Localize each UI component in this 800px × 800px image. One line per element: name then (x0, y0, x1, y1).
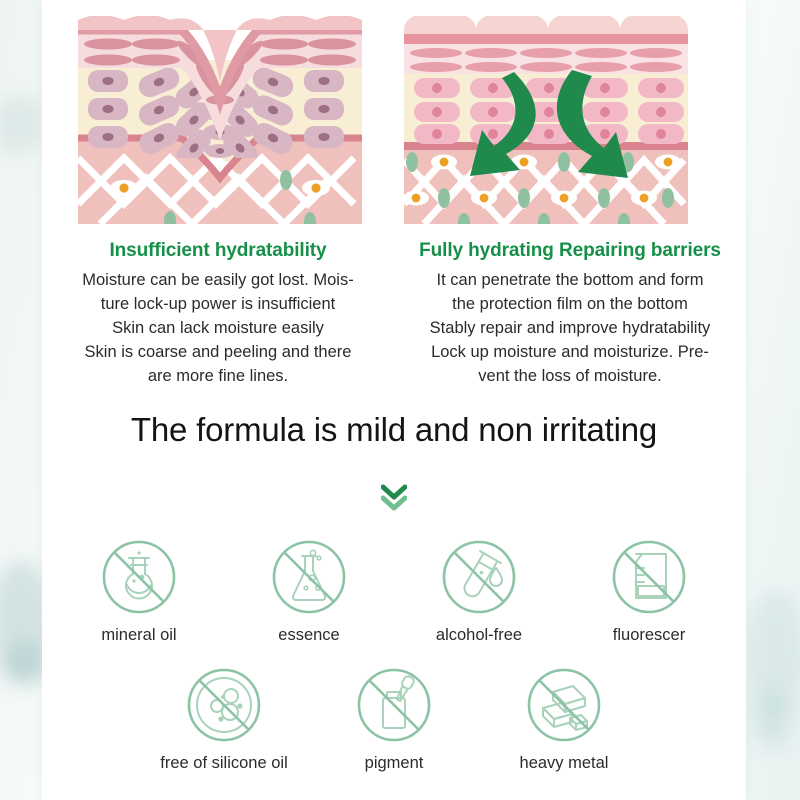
free-from-label: pigment (365, 752, 424, 774)
chevron-down-icon (381, 495, 407, 511)
section-headline: The formula is mild and non irritating (42, 408, 746, 452)
backdrop-blur-accent (0, 95, 46, 155)
no-beaker-icon (608, 536, 690, 618)
copy-line: Skin is coarse and peeling and there (48, 340, 388, 364)
no-metal-ingots-icon (523, 664, 605, 746)
copy-heading-hydrated: Fully hydrating Repairing barriers (400, 238, 740, 264)
copy-line: Stably repair and improve hydratability (400, 316, 740, 340)
free-from-item-silicone-oil: free of silicone oil (163, 664, 285, 774)
scroll-chevrons (42, 484, 746, 511)
free-from-row-one: mineral oil (42, 536, 746, 646)
free-from-item-mineral-oil: mineral oil (78, 536, 200, 646)
copy-column-hydrated: Fully hydrating Repairing barriers It ca… (394, 238, 746, 388)
copy-line: are more fine lines. (48, 364, 388, 388)
copy-line: vent the loss of moisture. (400, 364, 740, 388)
free-from-label: fluorescer (613, 624, 685, 646)
copy-line: Lock up moisture and moisturize. Pre- (400, 340, 740, 364)
free-from-item-fluorescer: fluorescer (588, 536, 710, 646)
no-test-tube-droplet-icon (438, 536, 520, 618)
copy-line: Moisture can be easily got lost. Mois- (48, 268, 388, 292)
copy-line: It can penetrate the bottom and form (400, 268, 740, 292)
free-from-item-heavy-metal: heavy metal (503, 664, 625, 774)
skin-diagram-row (42, 0, 746, 240)
backdrop-blur-accent (752, 690, 792, 750)
copy-body-hydrated: It can penetrate the bottom and form the… (400, 268, 740, 388)
free-from-icon-grid: mineral oil (42, 536, 746, 774)
no-round-flask-icon (98, 536, 180, 618)
copy-column-dehydrated: Insufficient hydratability Moisture can … (42, 238, 394, 388)
infographic-card: Insufficient hydratability Moisture can … (42, 0, 746, 800)
free-from-row-two: free of silicone oil (42, 664, 746, 774)
free-from-label: mineral oil (101, 624, 176, 646)
skin-diagram-hydrated (396, 8, 696, 232)
free-from-item-pigment: pigment (333, 664, 455, 774)
free-from-label: essence (278, 624, 339, 646)
copy-heading-dehydrated: Insufficient hydratability (48, 238, 388, 264)
copy-body-dehydrated: Moisture can be easily got lost. Mois- t… (48, 268, 388, 388)
copy-line: the protection film on the bottom (400, 292, 740, 316)
free-from-label: heavy metal (520, 752, 609, 774)
comparison-copy-row: Insufficient hydratability Moisture can … (42, 238, 746, 388)
free-from-label: alcohol-free (436, 624, 522, 646)
no-conical-flask-icon (268, 536, 350, 618)
free-from-label: free of silicone oil (160, 752, 287, 774)
free-from-item-essence: essence (248, 536, 370, 646)
free-from-item-alcohol-free: alcohol-free (418, 536, 540, 646)
skin-diagram-dehydrated (70, 8, 370, 232)
no-silicone-droplets-icon (183, 664, 265, 746)
copy-line: Skin can lack moisture easily (48, 316, 388, 340)
no-dropper-bottle-icon (353, 664, 435, 746)
copy-line: ture lock-up power is insufficient (48, 292, 388, 316)
